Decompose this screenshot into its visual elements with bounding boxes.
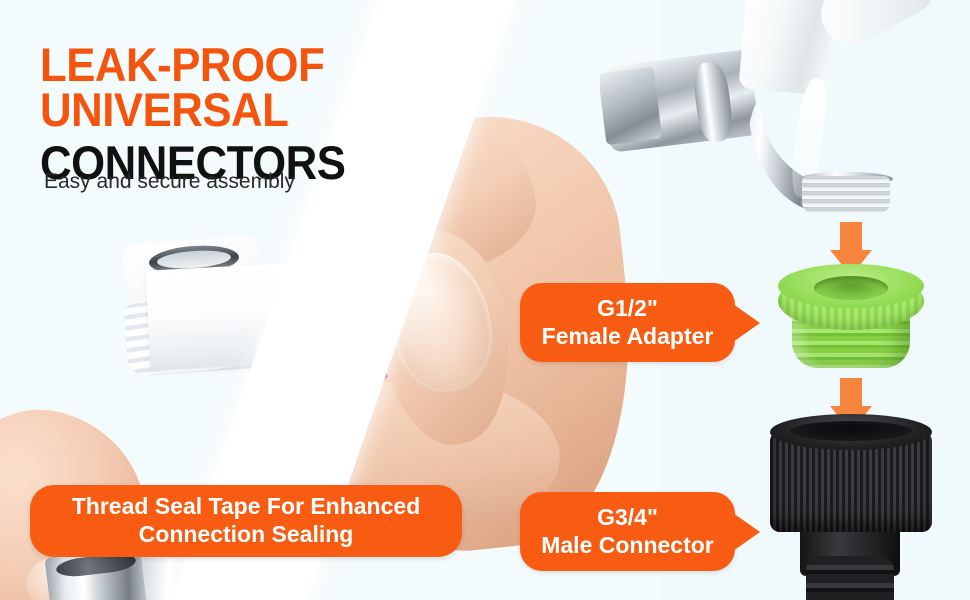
banner-thread-seal-tape: Thread Seal Tape For Enhanced Connection…: [30, 485, 462, 557]
callout-female-adapter: G1/2" Female Adapter: [520, 283, 735, 362]
callout-male-connector-line-1: G3/4": [597, 504, 658, 530]
callout-male-connector: G3/4" Male Connector: [520, 492, 735, 571]
faucet-handle-arm: [811, 0, 945, 55]
black-connector-quick-stem: [806, 556, 894, 600]
banner-line-2: Connection Sealing: [139, 521, 354, 547]
green-adapter-opening: [814, 276, 888, 300]
black-connector-opening: [790, 421, 912, 441]
subheadline: Easy and secure assembly: [44, 170, 295, 194]
banner-line-1: Thread Seal Tape For Enhanced: [72, 493, 421, 519]
callout-female-adapter-line-2: Female Adapter: [542, 323, 714, 349]
headline-line-1: LEAK-PROOF UNIVERSAL: [40, 42, 561, 132]
product-infographic: LEAK-PROOF UNIVERSAL CONNECTORS Easy and…: [0, 0, 970, 600]
callout-tail-icon: [733, 304, 760, 342]
callout-tail-icon: [733, 513, 760, 551]
page-title: LEAK-PROOF UNIVERSAL CONNECTORS: [40, 42, 600, 185]
callout-female-adapter-line-1: G1/2": [597, 295, 658, 321]
callout-male-connector-line-2: Male Connector: [541, 532, 714, 558]
faucet-hex-nut: [600, 67, 662, 145]
faucet-spout-threads: [802, 176, 890, 214]
